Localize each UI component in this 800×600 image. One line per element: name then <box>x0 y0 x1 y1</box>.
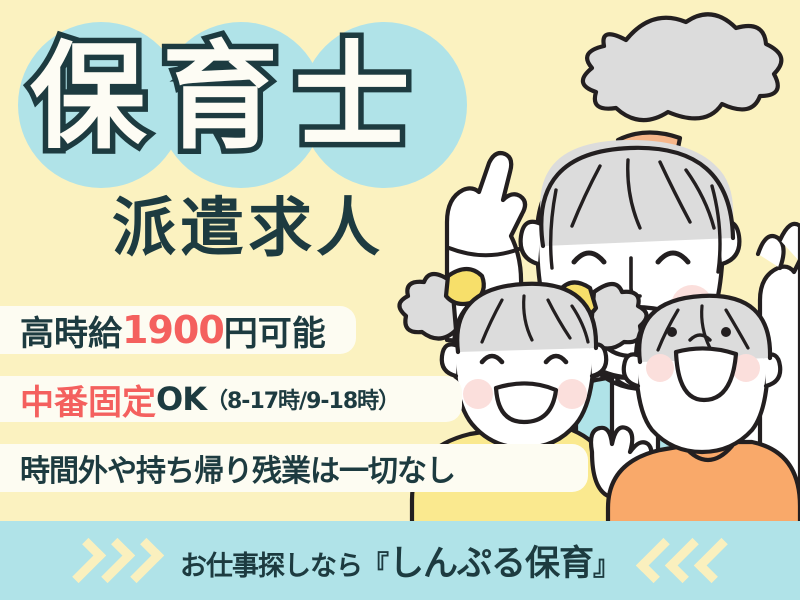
bullet-2-hours: （8-17時/9-18時） <box>206 383 399 415</box>
chevron-left-icon-3 <box>694 538 739 583</box>
bullet-1-part-1: 高時給 <box>20 306 122 355</box>
bullet-no-overtime: 時間外や持ち帰り残業は一切なし <box>0 444 588 492</box>
teacher-head <box>521 14 782 378</box>
bullet-1-amount: 1900 <box>122 308 224 352</box>
bullet-3-text: 時間外や持ち帰り残業は一切なし <box>20 446 455 490</box>
banner-quote-open: 『 <box>362 544 389 583</box>
teacher-raised-arm <box>447 153 525 345</box>
bullet-hourly-wage: 高時給 1900 円可能 <box>0 306 356 354</box>
teacher-right-hand <box>758 224 800 560</box>
bottom-banner: お仕事探しなら 『 しんぷる保育 』 <box>0 521 800 600</box>
banner-brand-name: しんぷる保育 <box>389 535 593 586</box>
bullet-2-part-1: 中番固定 <box>20 375 156 424</box>
banner-lead-text: お仕事探しなら <box>180 544 362 583</box>
poster-canvas: 保育士 派遣求人 高時給 1900 円可能 中番固定 OK （8-17時/9-1… <box>0 0 800 600</box>
chevrons-left-icon <box>646 541 729 580</box>
page-title: 保育士 <box>30 34 426 162</box>
bullet-1-part-3: 円可能 <box>224 306 326 355</box>
bullet-shift: 中番固定 OK （8-17時/9-18時） <box>0 376 462 422</box>
banner-quote-close: 』 <box>593 544 620 583</box>
chevrons-right-icon <box>71 541 154 580</box>
chevron-right-icon-3 <box>119 538 164 583</box>
bullet-2-ok: OK <box>156 380 206 418</box>
banner-text: お仕事探しなら 『 しんぷる保育 』 <box>180 535 620 586</box>
page-subtitle: 派遣求人 <box>112 192 384 266</box>
